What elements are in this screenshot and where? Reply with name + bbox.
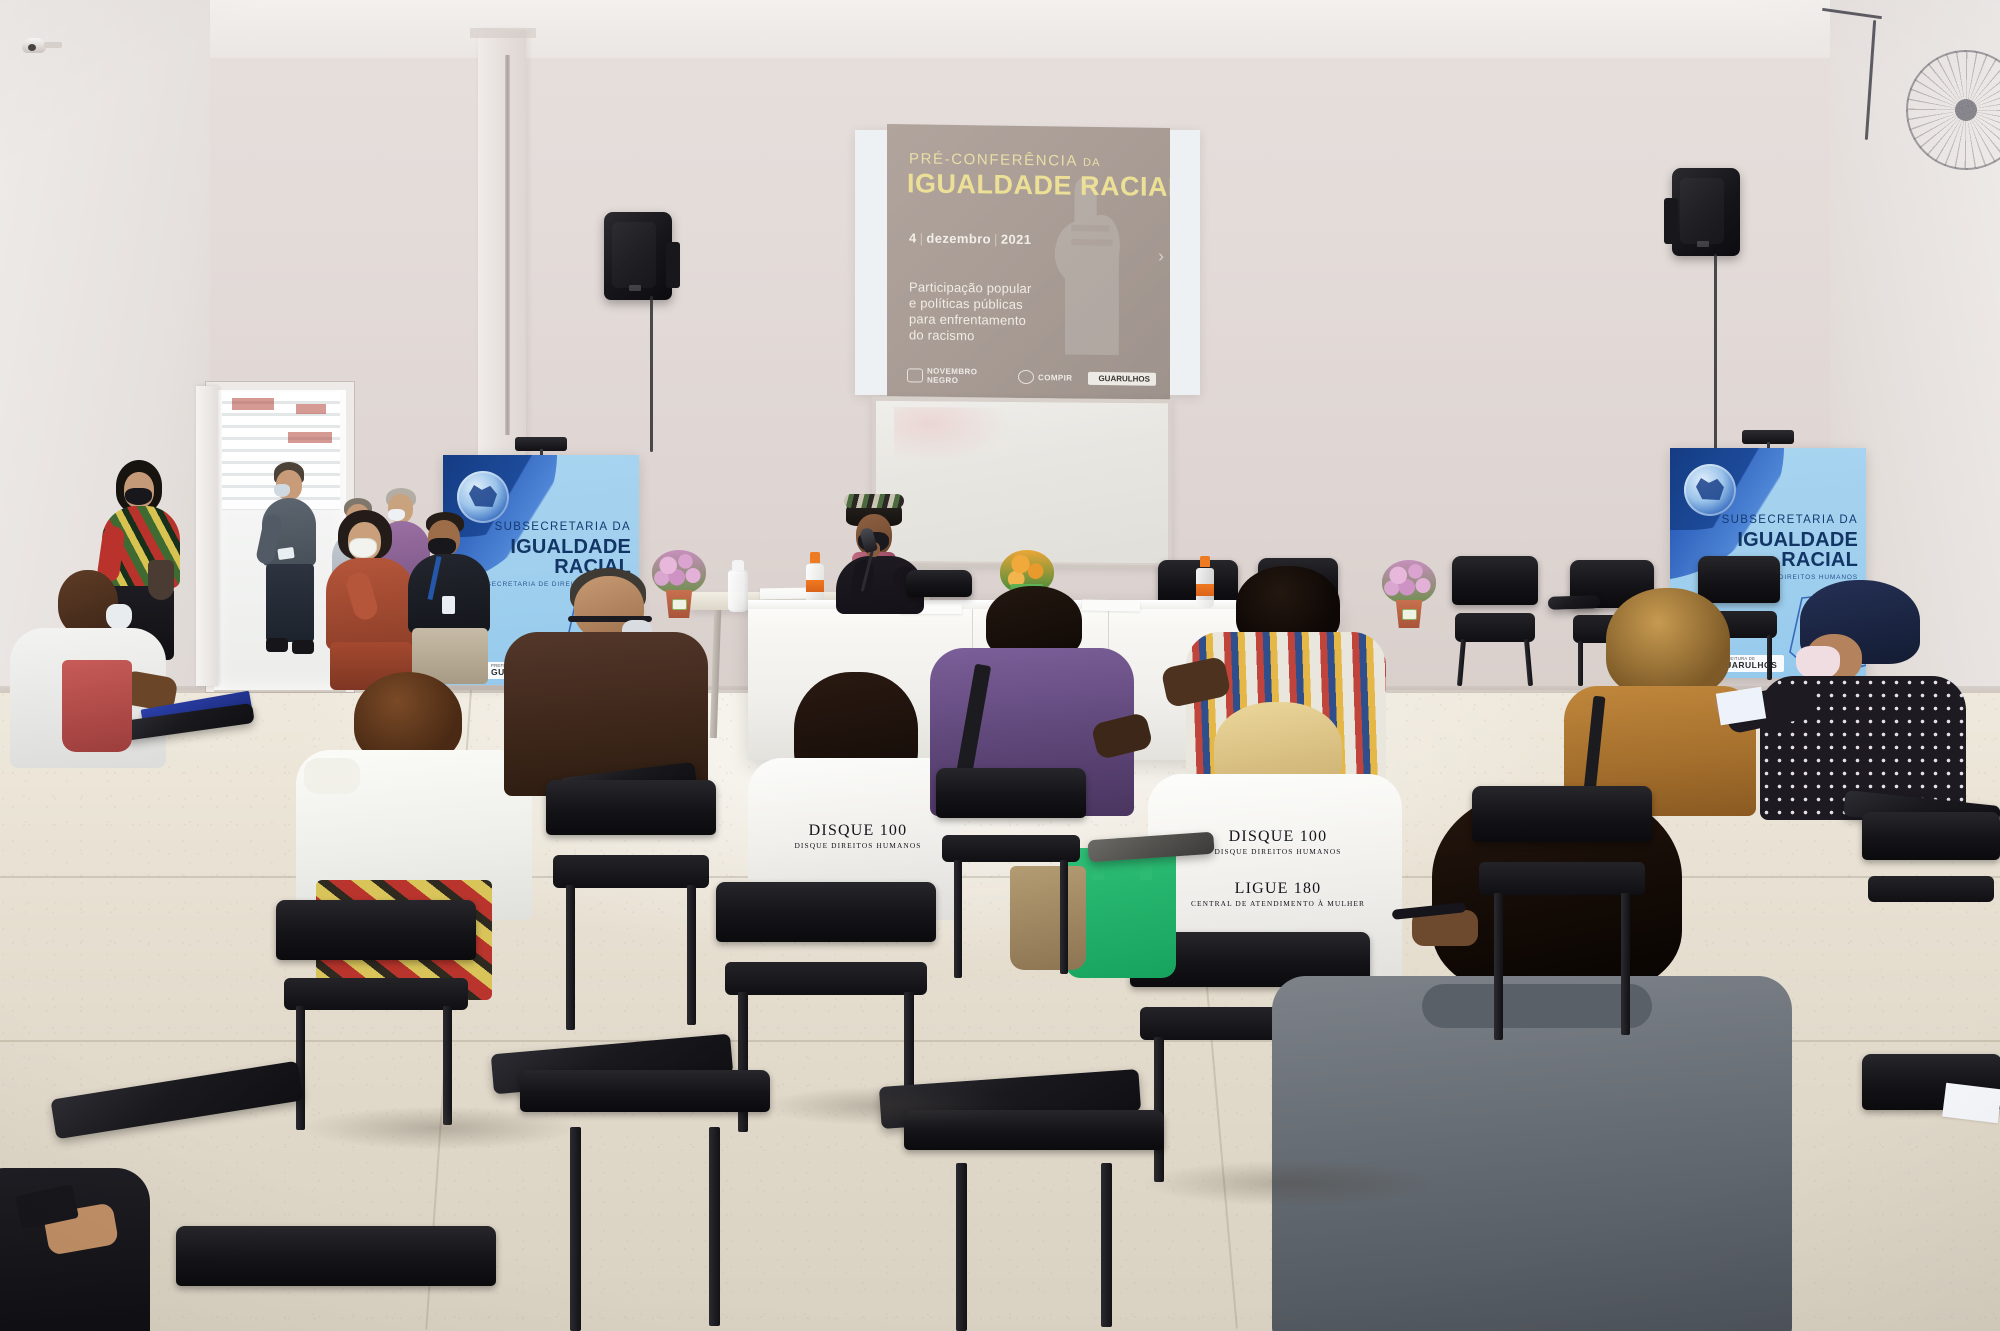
security-camera-icon <box>22 38 62 54</box>
slide-title: IGUALDADE RACIAL <box>907 168 1170 203</box>
wall-fan-icon <box>1906 50 2000 170</box>
person-foreground-with-phone <box>0 1148 180 1331</box>
id-badge <box>442 596 455 614</box>
chevron-right-icon: › <box>1158 246 1164 267</box>
pa-speaker-right <box>1672 168 1740 256</box>
chair-empty[interactable] <box>1452 556 1538 686</box>
person-seated-with-lanyard <box>402 512 496 682</box>
chair-empty-front[interactable] <box>1862 1054 2000 1194</box>
guarulhos-seal-icon <box>1684 464 1736 516</box>
projected-slide: PRÉ-CONFERÊNCIA DA IGUALDADE RACIAL 4|de… <box>887 124 1170 400</box>
person-seated-navy-headwrap <box>1760 580 1970 820</box>
speaker-cable <box>650 296 653 452</box>
pillar-cap <box>470 28 536 38</box>
chair-empty-front[interactable] <box>176 1226 496 1331</box>
wall-pillar <box>478 30 526 460</box>
slide-kicker: PRÉ-CONFERÊNCIA DA <box>909 150 1101 170</box>
logo-compir: COMPIR <box>1018 370 1072 385</box>
floor-shadow <box>1140 1160 1440 1206</box>
person-standing-with-phone <box>258 462 320 670</box>
slide-logo-row: NOVEMBRO NEGRO COMPIR GUARULHOS <box>907 362 1156 391</box>
door-leaf[interactable] <box>196 386 218 686</box>
speaker-cable <box>1714 254 1717 454</box>
paper-sheet <box>760 588 812 600</box>
wall-conduit <box>505 55 510 435</box>
mobile-phone[interactable] <box>277 547 294 560</box>
red-handbag[interactable] <box>62 660 132 752</box>
slide-body-text: Participação popular e políticas pública… <box>909 279 1032 344</box>
chair-empty[interactable] <box>936 768 1086 978</box>
chair-empty[interactable] <box>1472 786 1652 1040</box>
pa-speaker-left <box>604 212 672 300</box>
chair-empty-front[interactable] <box>904 1110 1164 1331</box>
conference-room-photo: PRÉ-CONFERÊNCIA DA IGUALDADE RACIAL 4|de… <box>0 0 2000 1331</box>
chair-empty[interactable] <box>1862 812 2000 1012</box>
chair-occupied[interactable] <box>276 900 476 1130</box>
projection-screen: PRÉ-CONFERÊNCIA DA IGUALDADE RACIAL 4|de… <box>855 130 1200 395</box>
banner-kicker: SUBSECRETARIA DA <box>1722 514 1858 526</box>
tshirt-print-front: DISQUE 100 DISQUE DIREITOS HUMANOS <box>748 822 968 850</box>
water-bottle <box>806 552 824 604</box>
hand-sanitizer-bottle <box>728 560 748 612</box>
banner-kicker: SUBSECRETARIA DA <box>495 521 631 533</box>
chair-empty-front[interactable] <box>520 1070 770 1331</box>
floor-shadow <box>760 1086 1020 1126</box>
logo-novembro-negro: NOVEMBRO NEGRO <box>907 366 1002 385</box>
paper-handout <box>1942 1083 2000 1124</box>
chair-empty[interactable] <box>546 780 716 1030</box>
logo-guarulhos: GUARULHOS <box>1088 371 1156 385</box>
floor-shadow <box>300 1106 580 1150</box>
slide-date: 4|dezembro|2021 <box>909 230 1031 247</box>
